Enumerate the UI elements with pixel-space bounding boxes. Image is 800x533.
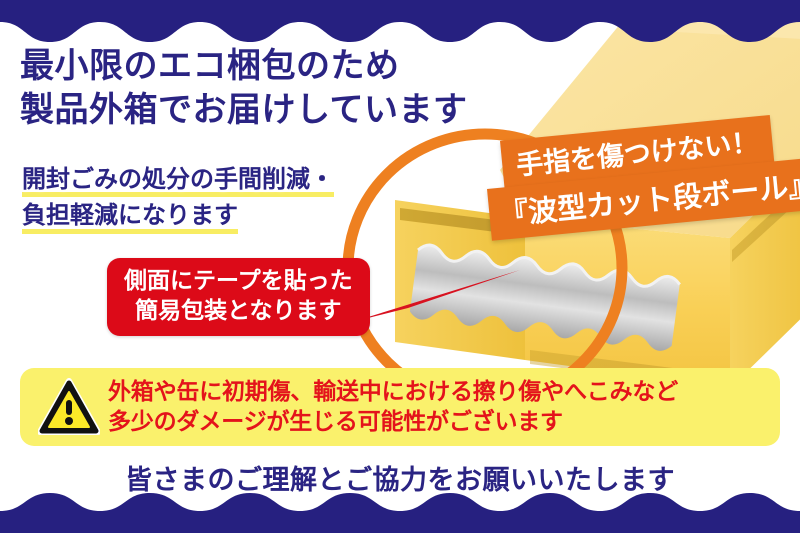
headline-line-1: 最小限のエコ梱包のため — [20, 44, 467, 88]
red-callout-line-1: 側面にテープを貼った — [124, 266, 353, 296]
warning-triangle-icon — [38, 378, 100, 436]
warning-line-2: 多少のダメージが生じる可能性がございます — [108, 407, 678, 437]
subhead-line-1: 開封ごみの処分の手間削減・ — [22, 162, 334, 198]
warning-line-1: 外箱や缶に初期傷、輸送中における擦り傷やへこみなど — [108, 377, 678, 407]
tape-callout-badge: 側面にテープを貼った 簡易包装となります — [107, 258, 370, 336]
top-wave-decoration — [0, 0, 800, 46]
red-pointer-arrow — [352, 268, 522, 330]
page-title: 最小限のエコ梱包のため 製品外箱でお届けしています — [20, 44, 467, 132]
subheading: 開封ごみの処分の手間削減・ 負担軽減になります — [22, 162, 334, 235]
poster-canvas: 最小限のエコ梱包のため 製品外箱でお届けしています 開封ごみの処分の手間削減・ … — [0, 0, 800, 533]
subhead-line-2: 負担軽減になります — [22, 198, 238, 234]
damage-warning-box: 外箱や缶に初期傷、輸送中における擦り傷やへこみなど 多少のダメージが生じる可能性… — [20, 368, 780, 446]
warning-text: 外箱や缶に初期傷、輸送中における擦り傷やへこみなど 多少のダメージが生じる可能性… — [108, 377, 678, 437]
red-callout-line-2: 簡易包装となります — [124, 296, 353, 326]
headline-line-2: 製品外箱でお届けしています — [20, 88, 467, 132]
bottom-wave-decoration — [0, 491, 800, 533]
